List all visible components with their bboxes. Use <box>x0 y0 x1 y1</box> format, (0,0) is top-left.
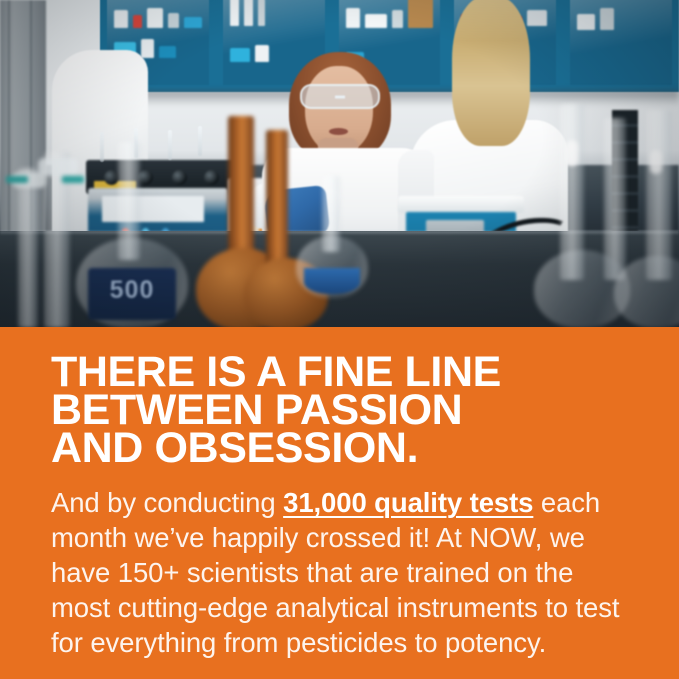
amber-flask-neck <box>266 130 288 270</box>
safety-goggles <box>300 84 380 109</box>
glass-highlight <box>566 140 578 166</box>
cabinet-pane <box>563 0 679 92</box>
burette-glassware <box>18 168 38 327</box>
right-scientist-hair <box>452 0 530 146</box>
tall-glass-column <box>646 110 672 280</box>
quality-tests-highlight: 31,000 quality tests <box>283 487 533 518</box>
support-rod <box>100 132 104 162</box>
orange-message-panel: THERE IS A FINE LINE BETWEEN PASSION AND… <box>0 327 679 679</box>
glass-highlight <box>650 150 662 174</box>
overhead-cabinets <box>100 0 679 92</box>
amber-flask-neck <box>228 116 254 266</box>
support-rod <box>198 126 202 156</box>
promotional-poster: 500 THERE IS A FINE LINE BETWEEN PASSION… <box>0 0 679 679</box>
blue-sample-liquid <box>304 268 360 294</box>
center-scientist-mouth <box>329 128 348 135</box>
page-title: THERE IS A FINE LINE BETWEEN PASSION AND… <box>51 353 628 467</box>
teal-clamp <box>6 176 28 183</box>
laboratory-scientists-photo: 500 <box>0 0 679 327</box>
flask-volume-label: 500 <box>92 276 172 305</box>
body-paragraph: And by conducting 31,000 quality tests e… <box>51 485 628 660</box>
support-rod <box>168 130 172 160</box>
burette-collar <box>38 158 78 176</box>
body-text-before: And by conducting <box>51 487 283 518</box>
teal-clamp <box>62 176 84 183</box>
